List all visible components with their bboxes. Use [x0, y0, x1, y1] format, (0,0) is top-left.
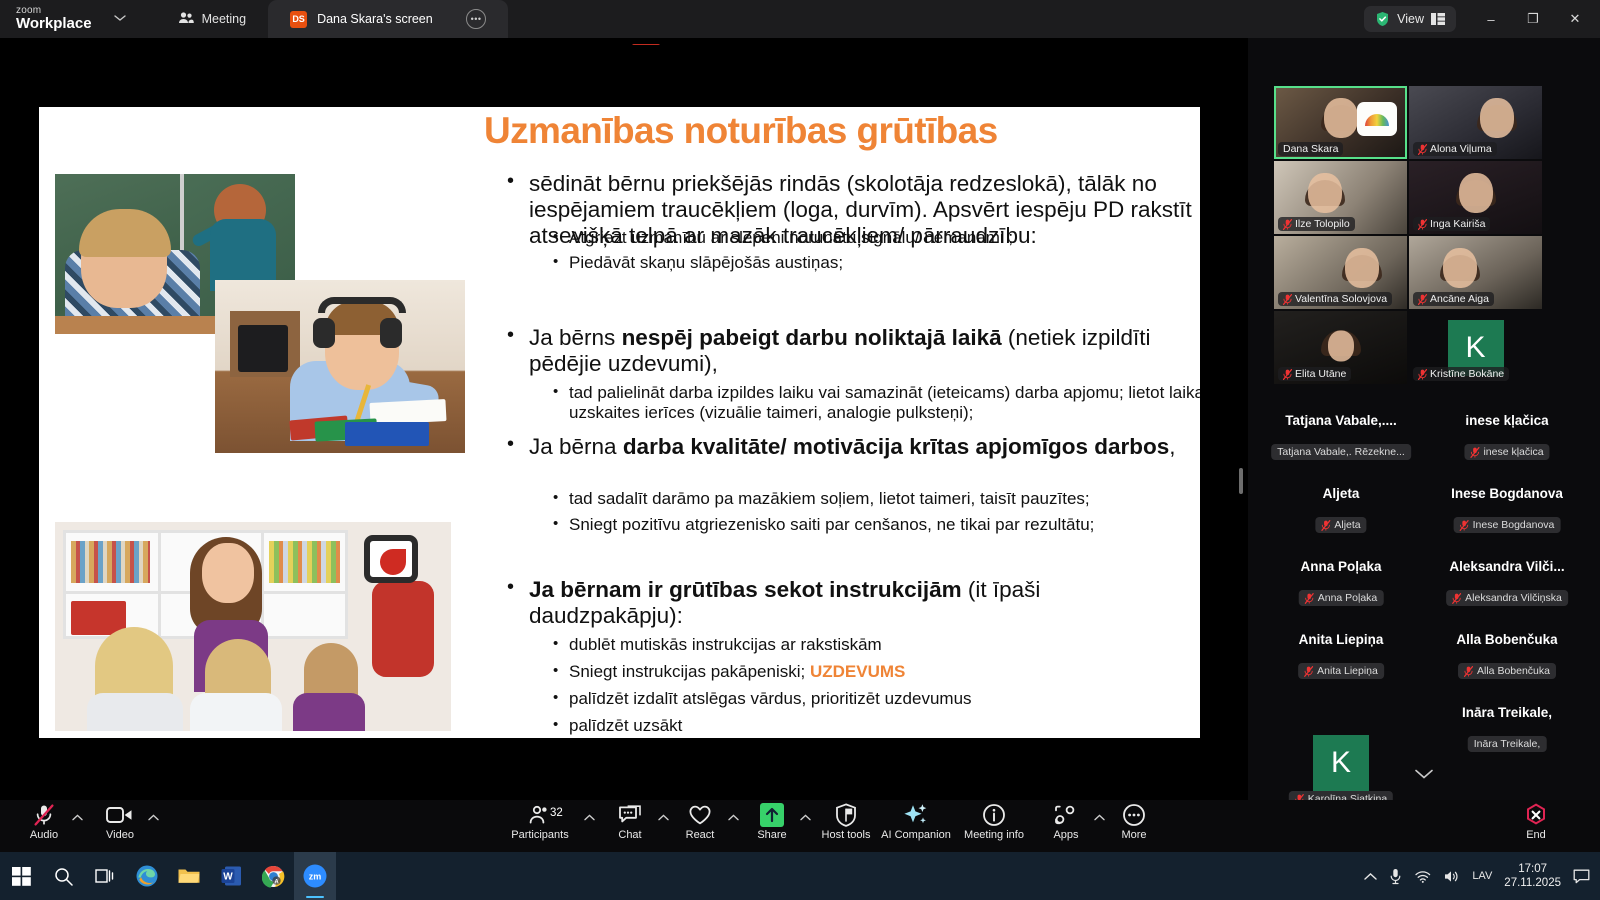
video-tile[interactable]: KKristīne Bokāne	[1409, 311, 1542, 384]
search-icon[interactable]	[42, 852, 84, 900]
bullet-level2: Sniegt pozitīvu atgriezenisko saiti par …	[569, 515, 1200, 535]
participant-silhouette	[1480, 98, 1514, 138]
microphone-muted-icon	[1418, 294, 1427, 305]
toolbar-more-button[interactable]: More	[1098, 804, 1170, 850]
participant-name-text: Tatjana Vabale,. Rēzekne...	[1277, 446, 1405, 458]
audio-participant-row: AljetaAljetaInese BogdanovaInese Bogdano…	[1258, 482, 1590, 555]
audio-participant[interactable]: Anita LiepiņaAnita Liepiņa	[1258, 628, 1424, 701]
participant-name-text: Anita Liepiņa	[1317, 665, 1378, 677]
toolbar-participants-button[interactable]: 32Participants	[504, 804, 576, 850]
audio-participant-row: Anita LiepiņaAnita LiepiņaAlla Bobenčuka…	[1258, 628, 1590, 701]
language-indicator[interactable]: LAV	[1472, 870, 1492, 882]
chevron-down-icon[interactable]	[1391, 762, 1457, 786]
bullet-text: UZDEVUMS	[810, 662, 905, 681]
bullet-marker: •	[553, 253, 558, 270]
layout-grid-icon	[1431, 13, 1445, 25]
window-controls: View – ❐ ✕	[1364, 0, 1600, 38]
participant-silhouette	[1345, 248, 1379, 288]
audio-participant[interactable]: Tatjana Vabale,....Tatjana Vabale,. Rēze…	[1258, 409, 1424, 482]
view-toggle-button[interactable]: View	[1364, 6, 1456, 32]
chrome-icon[interactable]: A	[252, 852, 294, 900]
bullet-level2: Piedāvāt skaņu slāpējošās austiņas;	[569, 253, 1200, 273]
tab-meeting-label: Meeting	[202, 12, 246, 26]
bullet-marker: •	[553, 635, 558, 652]
microphone-muted-icon	[1418, 369, 1427, 380]
svg-text:A: A	[274, 879, 279, 885]
toolbar-item-label: Audio	[30, 829, 58, 841]
heart-icon	[688, 804, 712, 826]
audio-participant[interactable]: inese kļačicainese kļačica	[1424, 409, 1590, 482]
video-tile[interactable]: Valentīna Solovjova	[1274, 236, 1407, 309]
participant-silhouette	[1443, 248, 1477, 288]
bullet-marker: •	[553, 662, 558, 679]
video-tile[interactable]: Elita Utāne	[1274, 311, 1407, 384]
participant-display-name: Anita Liepiņa	[1299, 632, 1384, 647]
participant-name-label: Aleksandra Vilčiņska	[1446, 590, 1568, 606]
camera-icon	[106, 804, 134, 826]
bullet-marker: •	[507, 170, 514, 193]
participant-display-name: Alla Bobenčuka	[1456, 632, 1557, 647]
word-icon[interactable]: W	[210, 852, 252, 900]
panel-resize-handle[interactable]	[1239, 468, 1243, 494]
visual-timer-held	[1357, 102, 1397, 136]
microphone-muted-icon	[1418, 219, 1427, 230]
toolbar-audio-button[interactable]: Audio	[8, 804, 80, 850]
video-tile-row: Ilze TolopiloInga Kairiša	[1274, 161, 1542, 234]
participant-name-text: inese kļačica	[1483, 446, 1543, 458]
participant-name-label: Kristīne Bokāne	[1413, 367, 1509, 381]
chevron-up-icon[interactable]	[1364, 872, 1377, 881]
toolbar-item-label: AI Companion	[881, 829, 951, 841]
start-button[interactable]	[0, 852, 42, 900]
participant-name-text: Aljeta	[1334, 519, 1360, 531]
bullet-text: Atgriezt uzmanību ar slepeni norunātu si…	[569, 228, 1013, 247]
participant-name-text: Ināra Treikale,	[1474, 738, 1541, 750]
participant-name-label: Anita Liepiņa	[1298, 663, 1384, 679]
audio-participant[interactable]: Alla BobenčukaAlla Bobenčuka	[1424, 628, 1590, 701]
participant-name-label: Alla Bobenčuka	[1458, 663, 1556, 679]
toolbar-item-label: Participants	[511, 829, 568, 841]
toolbar-item-label: React	[686, 829, 715, 841]
microphone-icon[interactable]	[1389, 868, 1402, 885]
microphone-muted-icon	[1470, 447, 1479, 458]
audio-participant[interactable]: Anna PoļakaAnna Poļaka	[1258, 555, 1424, 628]
audio-participant-row: Tatjana Vabale,....Tatjana Vabale,. Rēze…	[1258, 409, 1590, 482]
audio-participant[interactable]: Inese BogdanovaInese Bogdanova	[1424, 482, 1590, 555]
participant-name-label: Alona Viļuma	[1413, 142, 1497, 156]
bullet-level2: Sniegt instrukcijas pakāpeniski; UZDEVUM…	[569, 662, 1200, 682]
microphone-muted-icon	[32, 804, 56, 826]
video-tile-row: Valentīna SolovjovaAncāne Aiga	[1274, 236, 1542, 309]
toolbar-item-label: Video	[106, 829, 134, 841]
bullet-text: Sniegt instrukcijas pakāpeniski;	[569, 662, 810, 681]
microphone-muted-icon	[1452, 593, 1461, 604]
bullet-marker: •	[553, 383, 558, 400]
shield-icon	[835, 804, 857, 826]
clock-date: 27.11.2025	[1504, 876, 1561, 890]
participant-name-label: Ancāne Aiga	[1413, 292, 1494, 306]
participant-name-text: Dana Skara	[1283, 143, 1338, 155]
bullet-level2: tad palielināt darba izpildes laiku vai …	[569, 383, 1200, 424]
toolbar-apps-button[interactable]: Apps	[1030, 804, 1102, 850]
participant-name-text: Aleksandra Vilčiņska	[1465, 592, 1562, 604]
tab-meeting[interactable]: Meeting	[156, 0, 268, 38]
participant-count-badge: 32	[550, 807, 563, 819]
participant-name-text: Alona Viļuma	[1430, 143, 1492, 155]
toolbar-item-label: Host tools	[822, 829, 871, 841]
slide-content: Uzmanības noturības grūtības •sēdināt bē…	[39, 107, 1200, 738]
chevron-up-icon[interactable]	[148, 813, 159, 823]
microphone-muted-icon	[1283, 294, 1292, 305]
wifi-icon[interactable]	[1414, 870, 1431, 883]
toolbar-host-tools-button[interactable]: Host tools	[810, 804, 882, 850]
microphone-muted-icon	[1460, 520, 1469, 531]
bullet-text: tad sadalīt darāmo pa mazākiem soļiem, l…	[569, 489, 1090, 508]
participant-display-name: Anna Poļaka	[1300, 559, 1381, 574]
participant-display-name: Aljeta	[1323, 486, 1360, 501]
bullet-marker: •	[553, 489, 558, 506]
bullet-text: Ja bērnam ir grūtības sekot instrukcijām	[529, 577, 962, 602]
participant-name-label: Aljeta	[1315, 517, 1366, 533]
bullet-marker: •	[553, 228, 558, 245]
info-circle-icon	[982, 804, 1006, 826]
bullet-text: tad palielināt darba izpildes laiku vai …	[569, 383, 1200, 422]
participant-name-text: Elita Utāne	[1295, 368, 1346, 380]
video-tile[interactable]: Alona Viļuma	[1409, 86, 1542, 159]
participant-name-text: Kristīne Bokāne	[1430, 368, 1504, 380]
bullet-marker: •	[553, 689, 558, 706]
bullet-text: palīdzēt uzsākt	[569, 716, 682, 735]
title-bar: zoom Workplace Meeting DS D	[0, 0, 1600, 38]
toolbar-item-label: Chat	[618, 829, 641, 841]
participant-name-label: Elita Utāne	[1278, 367, 1351, 381]
participant-silhouette	[1308, 173, 1342, 213]
video-tile[interactable]: Dana Skara	[1274, 86, 1407, 159]
participant-silhouette	[1459, 173, 1493, 213]
svg-text:zm: zm	[309, 872, 322, 882]
toolbar-ai-companion-button[interactable]: AI Companion	[880, 804, 952, 850]
zoom-brand: zoom Workplace	[0, 6, 126, 32]
close-button[interactable]: ✕	[1554, 0, 1596, 38]
bullet-marker: •	[507, 324, 514, 347]
clock[interactable]: 17:07 27.11.2025	[1504, 862, 1561, 891]
participant-name-text: Inga Kairiša	[1430, 218, 1485, 230]
apps-icon	[1053, 804, 1079, 826]
participant-name-label: Tatjana Vabale,. Rēzekne...	[1271, 444, 1411, 460]
bullet-level2: tad sadalīt darāmo pa mazākiem soļiem, l…	[569, 489, 1200, 509]
participant-silhouette	[1328, 331, 1354, 362]
bullet-text: palīdzēt izdalīt atslēgas vārdus, priori…	[569, 689, 972, 708]
system-tray: LAV 17:07 27.11.2025	[1364, 862, 1600, 891]
svg-text:W: W	[223, 872, 233, 883]
participant-display-name: inese kļačica	[1465, 413, 1548, 428]
participant-name-text: Valentīna Solovjova	[1295, 293, 1387, 305]
view-label: View	[1397, 12, 1424, 26]
bullet-level2: dublēt mutiskās instrukcijas ar rakstisk…	[569, 635, 1200, 655]
presentation-slide: Uzmanības noturības grūtības •sēdināt bē…	[39, 45, 1200, 762]
participant-display-name: Inese Bogdanova	[1451, 486, 1563, 501]
microphone-muted-icon	[1304, 666, 1313, 677]
participant-name-label: Dana Skara	[1278, 142, 1343, 156]
toolbar-item-label: More	[1121, 829, 1146, 841]
slide-letterbox-bottom	[39, 738, 1200, 762]
participant-name-label: Anna Poļaka	[1299, 590, 1384, 606]
audio-participant-row: Anna PoļakaAnna PoļakaAleksandra Vilči..…	[1258, 555, 1590, 628]
brand-workplace-label: Workplace	[16, 16, 92, 32]
chevron-up-icon[interactable]	[72, 813, 83, 823]
bullet-level2: Atgriezt uzmanību ar slepeni norunātu si…	[569, 228, 1200, 248]
toolbar-item-label: Apps	[1053, 829, 1078, 841]
bullet-text: Piedāvāt skaņu slāpējošās austiņas;	[569, 253, 843, 272]
zoom-meeting-window: zoom Workplace Meeting DS D	[0, 0, 1600, 900]
participant-name-text: Ancāne Aiga	[1430, 293, 1489, 305]
bullet-marker: •	[553, 515, 558, 532]
audio-participant-list: Tatjana Vabale,....Tatjana Vabale,. Rēze…	[1258, 409, 1590, 774]
participant-name-label: inese kļačica	[1464, 444, 1549, 460]
audio-participant[interactable]: Aleksandra Vilči...Aleksandra Vilčiņska	[1424, 555, 1590, 628]
participants-rail: Dana SkaraAlona ViļumaIlze TolopiloInga …	[1248, 38, 1600, 800]
participant-silhouette	[1324, 98, 1358, 138]
task-view-icon[interactable]	[84, 852, 126, 900]
share-screen-icon	[759, 804, 785, 826]
bullet-text: dublēt mutiskās instrukcijas ar rakstisk…	[569, 635, 882, 654]
participant-name-label: Valentīna Solovjova	[1278, 292, 1392, 306]
bullet-level1: Ja bērnam ir grūtības sekot instrukcijām…	[529, 577, 1194, 629]
visual-timer-icon	[364, 535, 418, 583]
clock-time: 17:07	[1504, 862, 1561, 876]
people-icon	[178, 11, 194, 27]
more-dots-icon	[1122, 804, 1146, 826]
bullet-text: darba kvalitāte/ motivācija krītas apjom…	[623, 434, 1169, 459]
tab-shared-screen[interactable]: DS Dana Skara's screen •••	[268, 0, 508, 38]
toolbar-item-label: Meeting info	[964, 829, 1024, 841]
toolbar-meeting-info-button[interactable]: Meeting info	[958, 804, 1030, 850]
toolbar-item-label: Share	[757, 829, 786, 841]
maximize-button[interactable]: ❐	[1512, 0, 1554, 38]
tab-shared-screen-label: Dana Skara's screen	[317, 12, 433, 26]
chevron-down-icon[interactable]	[114, 13, 126, 25]
bullet-level2: palīdzēt uzsākt	[569, 716, 1200, 736]
microphone-muted-icon	[1305, 593, 1314, 604]
bullet-marker: •	[507, 576, 514, 599]
shield-check-icon	[1375, 11, 1390, 27]
toolbar-share-button[interactable]: Share	[736, 804, 808, 850]
avatar: K	[1313, 735, 1369, 791]
video-tile[interactable]: Inga Kairiša	[1409, 161, 1542, 234]
participant-name-text: Alla Bobenčuka	[1477, 665, 1550, 677]
notification-icon[interactable]	[1573, 869, 1590, 884]
bullet-text: nespēj pabeigt darbu noliktajā laikā	[622, 325, 1002, 350]
toolbar-chat-button[interactable]: Chat	[594, 804, 666, 850]
video-tile[interactable]: Ilze Tolopilo	[1274, 161, 1407, 234]
microphone-muted-icon	[1464, 666, 1473, 677]
meeting-toolbar: End AudioVideo32ParticipantsChatReactSha…	[0, 800, 1600, 852]
speaker-icon[interactable]	[1443, 869, 1460, 884]
zoom-icon[interactable]: zm	[294, 852, 336, 900]
windows-taskbar: W A zm	[0, 852, 1600, 900]
folder-icon[interactable]	[168, 852, 210, 900]
toolbar-video-button[interactable]: Video	[84, 804, 156, 850]
participant-name-label: Inga Kairiša	[1413, 217, 1490, 231]
toolbar-react-button[interactable]: React	[664, 804, 736, 850]
video-tile-grid: Dana SkaraAlona ViļumaIlze TolopiloInga …	[1274, 86, 1542, 386]
participant-display-name: Aleksandra Vilči...	[1449, 559, 1564, 574]
bullet-text: Ja bērna	[529, 434, 623, 459]
slide-letterbox-top	[39, 45, 1200, 107]
more-dots-icon[interactable]: •••	[466, 9, 486, 29]
participants-icon	[528, 804, 552, 826]
chat-bubble-icon	[618, 804, 642, 826]
shared-screen-area: Uzmanības noturības grūtības •sēdināt bē…	[0, 38, 1248, 800]
slide-photo-boy-headphones	[215, 280, 465, 453]
bullet-text: ,	[1169, 434, 1175, 459]
bullet-text: Sniegt pozitīvu atgriezenisko saiti par …	[569, 515, 1094, 534]
participant-name-text: Anna Poļaka	[1318, 592, 1378, 604]
bullet-marker: •	[553, 716, 558, 733]
microphone-muted-icon	[1283, 219, 1292, 230]
slide-photo-library-group	[55, 522, 451, 731]
participant-name-label: Ilze Tolopilo	[1278, 217, 1355, 231]
participant-display-name: Ināra Treikale,	[1462, 705, 1552, 720]
participant-name-text: Ilze Tolopilo	[1295, 218, 1350, 230]
bullet-level2: palīdzēt izdalīt atslēgas vārdus, priori…	[569, 689, 1200, 709]
microphone-muted-icon	[1321, 520, 1330, 531]
video-tile-row: Dana SkaraAlona Viļuma	[1274, 86, 1542, 159]
audio-participant[interactable]: AljetaAljeta	[1258, 482, 1424, 555]
end-meeting-label: End	[1526, 829, 1546, 841]
end-meeting-button[interactable]: End	[1502, 804, 1570, 850]
participant-name-label: Ināra Treikale,	[1468, 736, 1547, 752]
bullet-marker: •	[507, 433, 514, 456]
avatar: DS	[290, 11, 307, 28]
end-call-icon	[1524, 804, 1548, 826]
participant-display-name: Tatjana Vabale,....	[1285, 413, 1397, 428]
window-tabs: Meeting DS Dana Skara's screen •••	[156, 0, 508, 38]
video-tile[interactable]: Ancāne Aiga	[1409, 236, 1542, 309]
microphone-muted-icon	[1283, 369, 1292, 380]
participant-name-text: Inese Bogdanova	[1473, 519, 1555, 531]
bullet-text: Ja bērns	[529, 325, 622, 350]
bullet-level1: Ja bērna darba kvalitāte/ motivācija krī…	[529, 434, 1194, 460]
minimize-button[interactable]: –	[1470, 0, 1512, 38]
participant-name-label: Inese Bogdanova	[1454, 517, 1561, 533]
edge-icon[interactable]	[126, 852, 168, 900]
video-tile-row: Elita UtāneKKristīne Bokāne	[1274, 311, 1542, 384]
slide-title: Uzmanības noturības grūtības	[484, 110, 1164, 152]
ai-sparkle-icon	[903, 804, 929, 826]
microphone-muted-icon	[1418, 144, 1427, 155]
bullet-level1: Ja bērns nespēj pabeigt darbu noliktajā …	[529, 325, 1194, 377]
